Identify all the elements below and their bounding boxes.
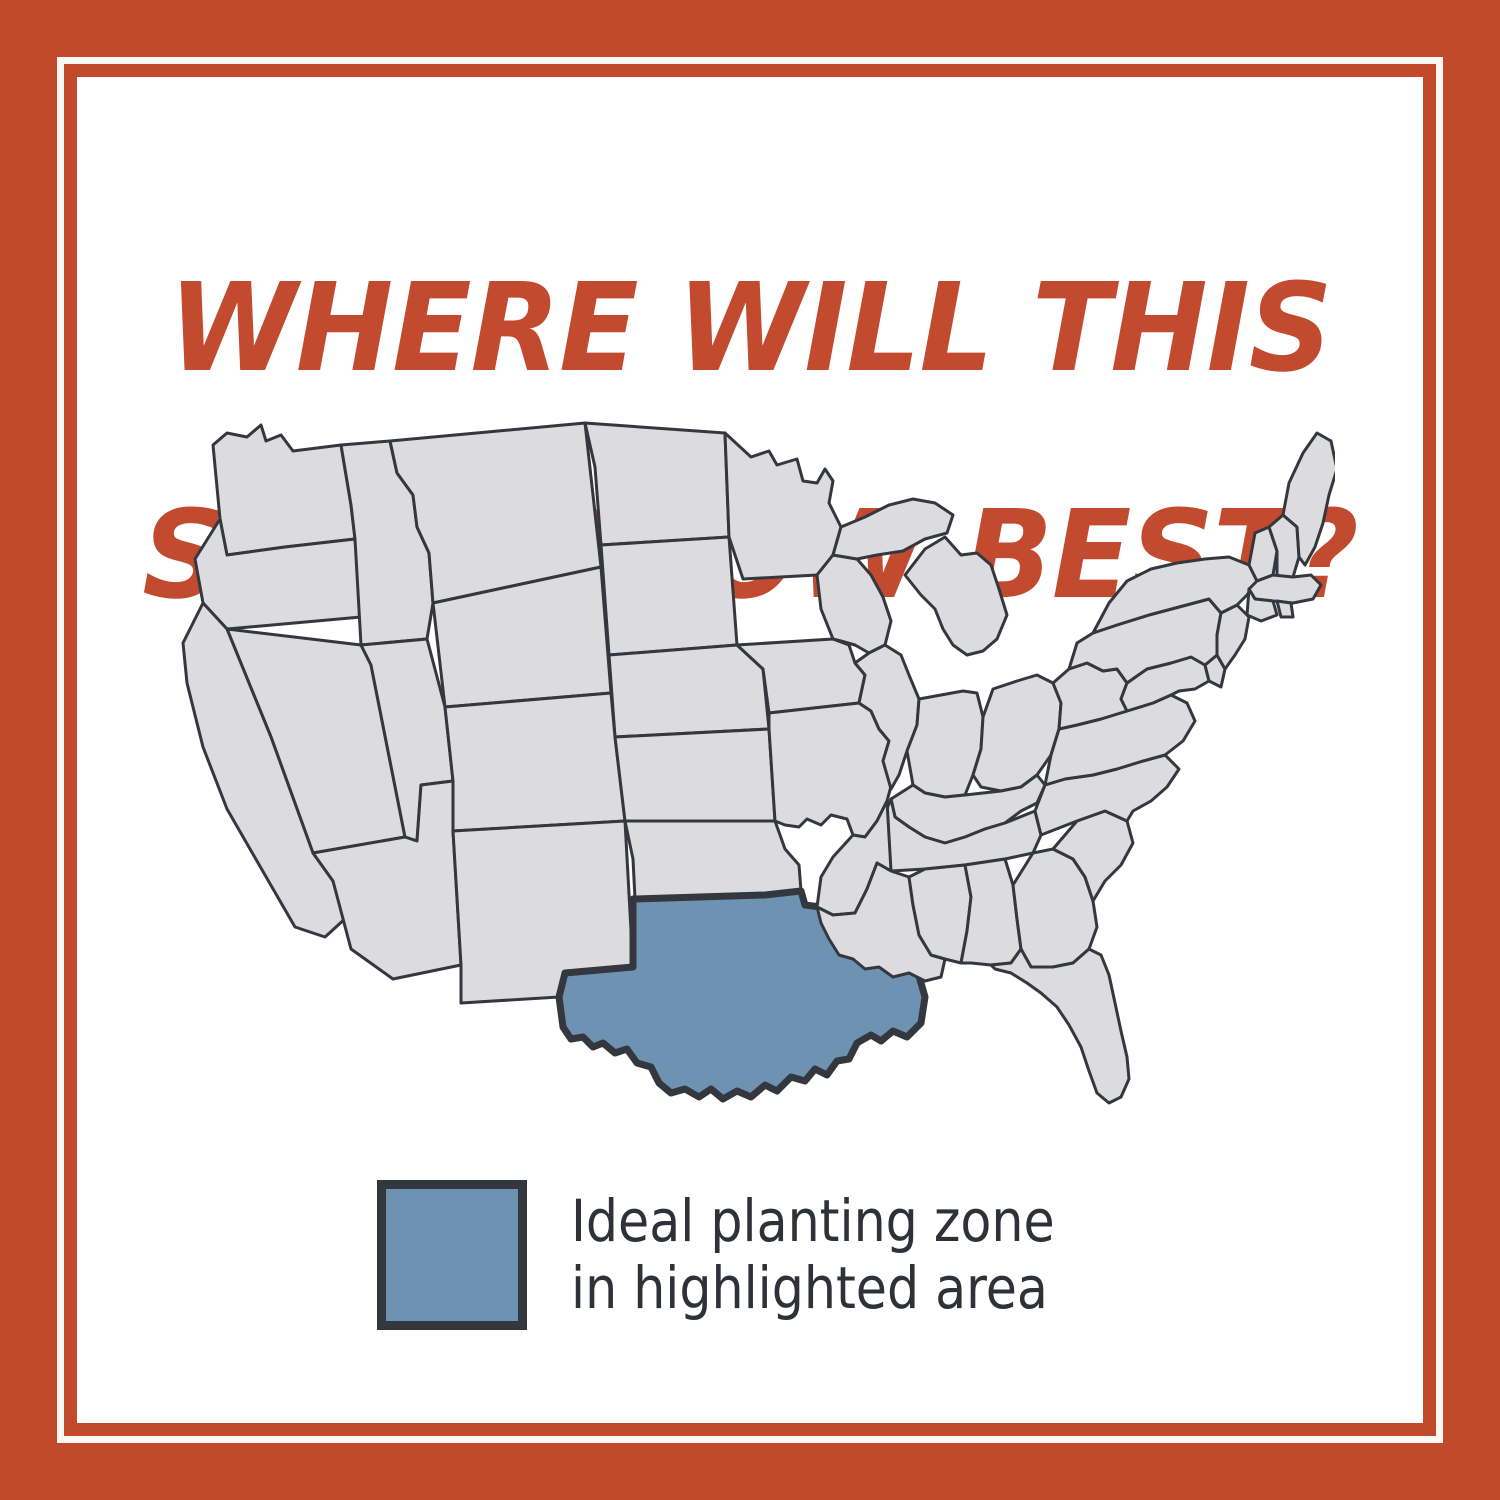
- legend-line-2: in highlighted area: [571, 1255, 1055, 1322]
- legend-line-1: Ideal planting zone: [571, 1188, 1055, 1255]
- us-map-svg: [165, 407, 1335, 1137]
- legend-color-swatch: [377, 1180, 527, 1330]
- state-kansas: [615, 729, 775, 821]
- state-nebraska: [609, 645, 769, 737]
- map-states: [183, 423, 1335, 1103]
- title-line-1: WHERE WILL THIS: [77, 272, 1423, 385]
- us-map: [165, 407, 1335, 1137]
- legend-label: Ideal planting zone in highlighted area: [571, 1188, 1055, 1323]
- state-washington: [213, 425, 355, 555]
- poster-frame: WHERE WILL THIS SEED GROW BEST?: [0, 0, 1500, 1500]
- state-indiana: [907, 691, 983, 797]
- poster-content: WHERE WILL THIS SEED GROW BEST?: [77, 77, 1423, 1423]
- state-alabama: [961, 859, 1021, 965]
- state-colorado: [445, 693, 625, 831]
- state-oklahoma: [625, 821, 801, 899]
- state-new-jersey: [1217, 605, 1249, 669]
- state-south-dakota: [601, 537, 737, 655]
- state-missouri: [769, 703, 893, 837]
- state-florida: [991, 949, 1129, 1103]
- state-michigan: [905, 537, 1007, 655]
- state-rhode-island: [1277, 601, 1293, 617]
- state-north-dakota: [585, 423, 729, 545]
- map-legend: Ideal planting zone in highlighted area: [377, 1180, 1070, 1330]
- state-minnesota: [725, 433, 841, 579]
